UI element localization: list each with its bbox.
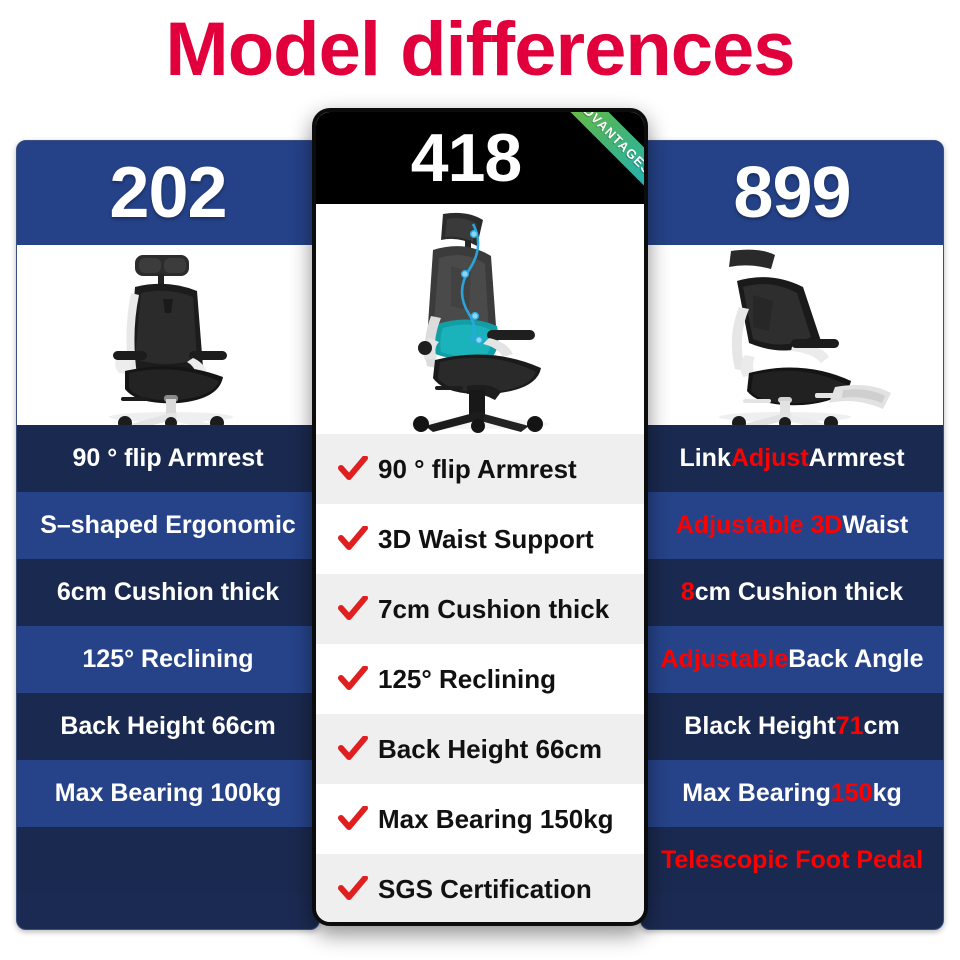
text-part: Link <box>679 444 730 473</box>
feature-row: Back Height 66cm <box>316 714 644 784</box>
text-part-highlight: Telescopic Foot Pedal <box>661 846 923 875</box>
advantages-ribbon-label: ADVANTAGES <box>573 112 644 178</box>
column-header-left: 202 <box>17 141 319 245</box>
feature-row: Black Height 71cm <box>641 693 943 760</box>
feature-row: Back Height 66cm <box>17 693 319 760</box>
feature-rows-left: 90 ° flip Armrest S–shaped Ergonomic 6cm… <box>17 425 319 894</box>
product-photo-right <box>641 245 943 425</box>
feature-label: SGS Certification <box>378 874 592 905</box>
check-icon <box>338 456 368 482</box>
feature-row: SGS Certification <box>316 854 644 924</box>
product-photo-left <box>17 245 319 425</box>
column-header-center: 418 ADVANTAGES <box>316 112 644 204</box>
feature-label: Back Height 66cm <box>378 734 602 765</box>
feature-row: Adjustable Back Angle <box>641 626 943 693</box>
text-part: Black Height <box>684 712 835 741</box>
text-part: Max Bearing <box>682 779 831 808</box>
text-part-highlight: Adjustable 3D <box>676 511 843 540</box>
text-part-highlight: 71 <box>836 712 864 741</box>
text-part: Waist <box>842 511 908 540</box>
feature-label: 7cm Cushion thick <box>378 594 609 625</box>
feature-row: Max Bearing 150kg <box>316 784 644 854</box>
feature-row: Adjustable 3D Waist <box>641 492 943 559</box>
feature-row: Max Bearing 100kg <box>17 760 319 827</box>
feature-label: 90 ° flip Armrest <box>378 454 577 485</box>
product-photo-center <box>316 204 644 434</box>
page-title: Model differences <box>0 6 960 93</box>
feature-row: 90 ° flip Armrest <box>316 434 644 504</box>
feature-row: 6cm Cushion thick <box>17 559 319 626</box>
text-part: kg <box>873 779 902 808</box>
text-part-highlight: 8 <box>681 578 695 607</box>
check-icon <box>338 526 368 552</box>
text-part-highlight: Adjustable <box>660 645 788 674</box>
feature-row-empty <box>17 827 319 894</box>
text-part-highlight: 150 <box>831 779 873 808</box>
feature-label: Max Bearing 150kg <box>378 804 614 835</box>
feature-label: 3D Waist Support <box>378 524 594 555</box>
model-number-left: 202 <box>109 157 226 229</box>
column-header-right: 899 <box>641 141 943 245</box>
feature-row: 7cm Cushion thick <box>316 574 644 644</box>
model-number-center: 418 <box>411 124 549 192</box>
check-icon <box>338 666 368 692</box>
office-chair-418-image <box>355 210 605 434</box>
check-icon <box>338 736 368 762</box>
text-part: cm Cushion thick <box>695 578 903 607</box>
model-number-right: 899 <box>733 157 850 229</box>
feature-row: Telescopic Foot Pedal <box>641 827 943 894</box>
feature-row: 125° Reclining <box>17 626 319 693</box>
feature-row: 3D Waist Support <box>316 504 644 574</box>
feature-row: 125° Reclining <box>316 644 644 714</box>
product-column-center-featured: 418 ADVANTAGES <box>312 108 648 926</box>
feature-row: Link Adjust Armrest <box>641 425 943 492</box>
text-part: cm <box>864 712 900 741</box>
text-part: Back Angle <box>788 645 923 674</box>
feature-row: S–shaped Ergonomic <box>17 492 319 559</box>
feature-label: 125° Reclining <box>378 664 556 695</box>
feature-row: 8cm Cushion thick <box>641 559 943 626</box>
feature-rows-center: 90 ° flip Armrest 3D Waist Support 7cm C… <box>316 434 644 924</box>
office-chair-202-image <box>63 247 273 425</box>
office-chair-899-image <box>675 247 910 425</box>
comparison-infographic: Model differences 202 <box>0 0 960 960</box>
check-icon <box>338 596 368 622</box>
advantages-ribbon-badge: ADVANTAGES <box>551 112 644 200</box>
text-part: Armrest <box>809 444 905 473</box>
product-column-left: 202 <box>16 140 320 930</box>
feature-row: 90 ° flip Armrest <box>17 425 319 492</box>
product-column-right: 899 <box>640 140 944 930</box>
check-icon <box>338 806 368 832</box>
feature-row: Max Bearing 150kg <box>641 760 943 827</box>
text-part-highlight: Adjust <box>731 444 809 473</box>
check-icon <box>338 876 368 902</box>
feature-rows-right: Link Adjust Armrest Adjustable 3D Waist … <box>641 425 943 894</box>
